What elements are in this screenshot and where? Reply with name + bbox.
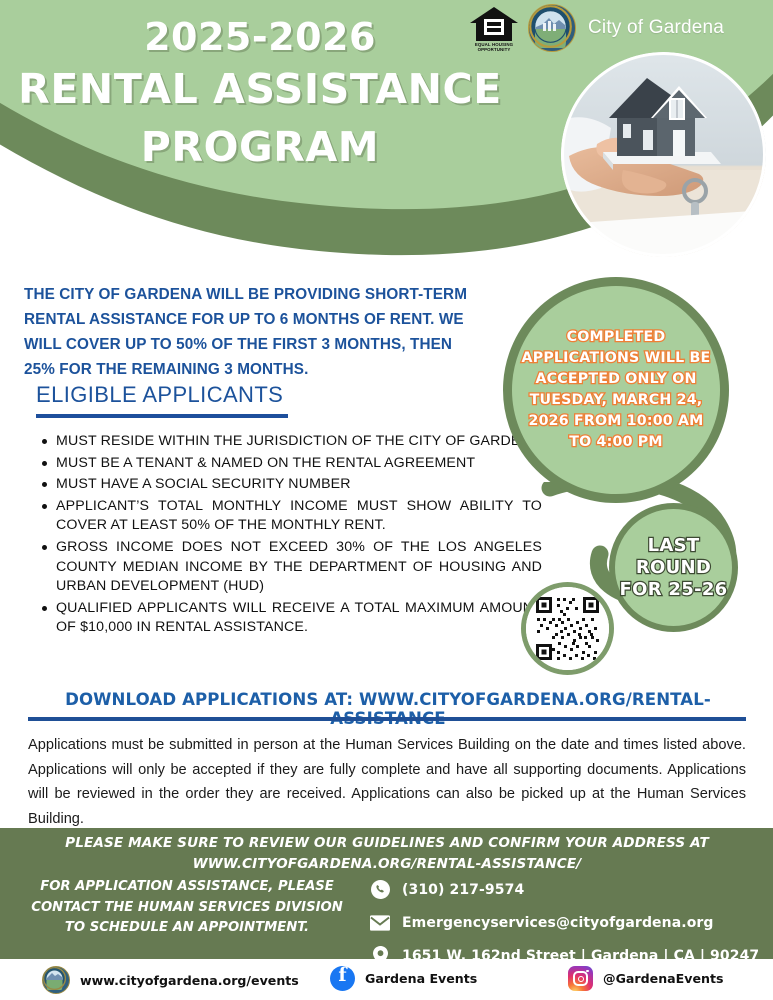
- section-underline: [36, 414, 288, 418]
- contact-email-row[interactable]: Emergencyservices@cityofgardena.org: [370, 909, 760, 936]
- application-date-badge: COMPLETED APPLICATIONS WILL BE ACCEPTED …: [503, 277, 729, 503]
- equal-housing-label: EQUAL HOUSING OPPORTUNITY: [468, 42, 520, 52]
- equal-housing-opportunity-icon: EQUAL HOUSING OPPORTUNITY: [468, 5, 520, 51]
- intro-paragraph: THE CITY OF GARDENA WILL BE PROVIDING SH…: [24, 282, 479, 382]
- website-label: www.cityofgardena.org/events: [80, 973, 299, 988]
- assistance-note: FOR APPLICATION ASSISTANCE, PLEASE CONTA…: [22, 877, 352, 939]
- page-year: 2025-2026: [0, 14, 520, 60]
- list-item: APPLICANT’S TOTAL MONTHLY INCOME MUST SH…: [42, 497, 542, 536]
- logo-group: EQUAL HOUSING OPPORTUNITY City of G: [468, 4, 724, 52]
- title-block: 2025-2026 RENTAL ASSISTANCE PROGRAM: [0, 14, 520, 176]
- email-address: Emergencyservices@cityofgardena.org: [402, 915, 714, 931]
- city-seal-icon: [528, 4, 576, 52]
- last-round-badge: LAST ROUND FOR 25-26: [609, 503, 738, 632]
- contact-phone-row[interactable]: (310) 217-9574: [370, 876, 760, 903]
- page-subtitle: PROGRAM: [0, 118, 520, 176]
- footer-notice-line2[interactable]: WWW.CITYOFGARDENA.ORG/RENTAL-ASSISTANCE/: [34, 854, 740, 875]
- phone-icon: [370, 880, 390, 900]
- footer-notice-line1: PLEASE MAKE SURE TO REVIEW OUR GUIDELINE…: [34, 833, 740, 854]
- facebook-label: Gardena Events: [365, 971, 477, 986]
- application-date-text: COMPLETED APPLICATIONS WILL BE ACCEPTED …: [516, 327, 716, 453]
- page-title: RENTAL ASSISTANCE: [0, 60, 520, 118]
- list-item: MUST HAVE A SOCIAL SECURITY NUMBER: [42, 475, 542, 495]
- instagram-label: @GardenaEvents: [603, 971, 724, 986]
- instagram-link[interactable]: @GardenaEvents: [568, 966, 724, 991]
- download-link[interactable]: DOWNLOAD APPLICATIONS AT: WWW.CITYOFGARD…: [24, 690, 752, 728]
- list-item: MUST RESIDE WITHIN THE JURISDICTION OF T…: [42, 432, 542, 452]
- list-item: QUALIFIED APPLICANTS WILL RECEIVE A TOTA…: [42, 599, 542, 638]
- qr-code-icon[interactable]: [521, 582, 614, 675]
- eligibility-list: MUST RESIDE WITHIN THE JURISDICTION OF T…: [22, 432, 542, 638]
- footer-notice: PLEASE MAKE SURE TO REVIEW OUR GUIDELINE…: [34, 833, 740, 875]
- list-item: MUST BE A TENANT & NAMED ON THE RENTAL A…: [42, 454, 542, 474]
- header-banner: 2025-2026 RENTAL ASSISTANCE PROGRAM EQUA…: [0, 0, 773, 265]
- city-seal-mini-icon: [42, 966, 70, 994]
- list-item: GROSS INCOME DOES NOT EXCEED 30% OF THE …: [42, 538, 542, 597]
- instructions-paragraph: Applications must be submitted in person…: [28, 733, 746, 831]
- website-link[interactable]: www.cityofgardena.org/events: [42, 966, 299, 994]
- last-round-text: LAST ROUND FOR 25-26: [616, 535, 732, 601]
- flyer-page: 2025-2026 RENTAL ASSISTANCE PROGRAM EQUA…: [0, 0, 773, 1000]
- envelope-icon: [370, 913, 390, 933]
- facebook-link[interactable]: Gardena Events: [330, 966, 477, 991]
- instagram-icon: [568, 966, 593, 991]
- facebook-icon: [330, 966, 355, 991]
- city-of-gardena-label: City of Gardena: [588, 17, 724, 39]
- download-underline: [28, 717, 746, 721]
- phone-number: (310) 217-9574: [402, 882, 524, 898]
- house-in-hand-photo: [561, 52, 766, 257]
- section-title-eligible-applicants: ELIGIBLE APPLICANTS: [36, 382, 283, 408]
